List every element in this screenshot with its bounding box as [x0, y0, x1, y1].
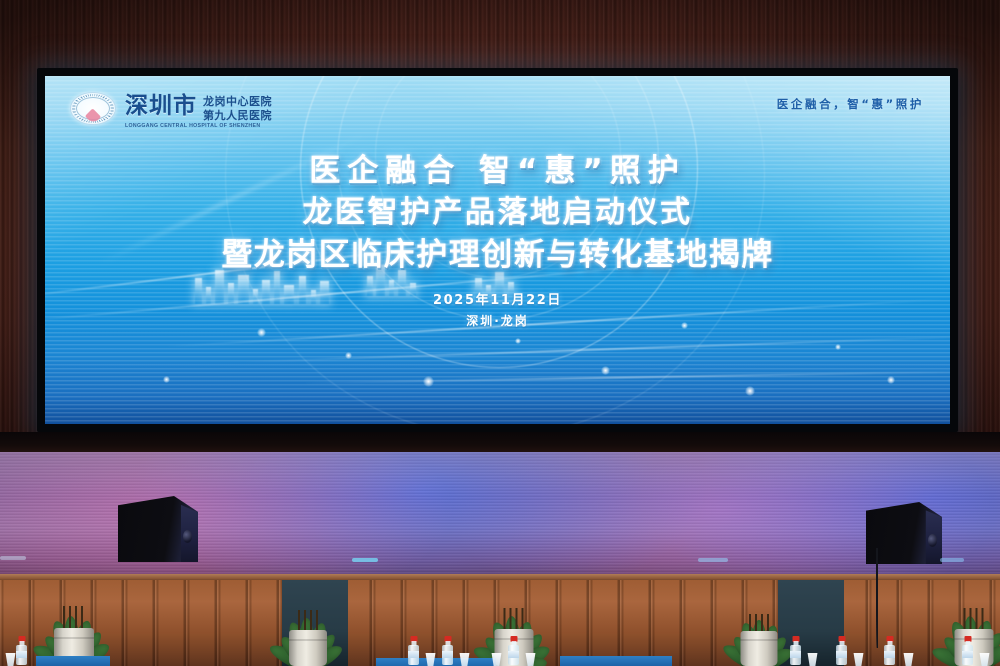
corner-slogan: 医企融合，智“惠”照护 — [777, 96, 924, 112]
table-skirt-2 — [376, 658, 496, 666]
event-date: 2025年11月22日 — [45, 289, 950, 308]
water-bottle — [790, 636, 801, 666]
emblem-ring-text — [72, 94, 114, 123]
hospital-logo: 深圳市 龙岗中心医院 第九人民医院 LONGGANG CENTRAL HOSPI… — [70, 92, 272, 125]
table-skirt-3 — [560, 656, 672, 666]
logo-hospital-name-2: 第九人民医院 — [203, 110, 272, 122]
speaker-cable — [876, 548, 878, 648]
potted-plant-1 — [14, 556, 134, 666]
water-bottle — [16, 636, 27, 666]
event-meta: 2025年11月22日 深圳·龙岗 — [45, 289, 950, 329]
led-screen: 深圳市 龙岗中心医院 第九人民医院 LONGGANG CENTRAL HOSPI… — [45, 76, 950, 424]
potted-plant-2 — [248, 562, 368, 666]
hospital-emblem-icon — [70, 92, 116, 125]
table-skirt-1 — [36, 656, 110, 666]
water-bottle — [442, 636, 453, 666]
water-bottle — [884, 636, 895, 666]
water-bottle — [408, 636, 419, 666]
title-line-1: 医企融合 智“惠”照护 — [45, 154, 950, 189]
title-line-2: 龙医智护产品落地启动仪式 — [45, 196, 950, 230]
logo-english-name: LONGGANG CENTRAL HOSPITAL OF SHENZHEN — [125, 123, 260, 129]
floor-light-2 — [698, 558, 728, 562]
plant-pot — [289, 630, 327, 666]
event-location: 深圳·龙岗 — [45, 312, 950, 329]
potted-plant-5 — [912, 558, 1000, 666]
title-line-3: 暨龙岗区临床护理创新与转化基地揭牌 — [45, 238, 950, 273]
logo-hospital-names: 龙岗中心医院 第九人民医院 — [203, 95, 272, 122]
water-bottle — [508, 636, 519, 666]
conference-hall-photo: 深圳市 龙岗中心医院 第九人民医院 LONGGANG CENTRAL HOSPI… — [0, 0, 1000, 666]
event-title: 医企融合 智“惠”照护 龙医智护产品落地启动仪式 暨龙岗区临床护理创新与转化基地… — [45, 154, 950, 273]
water-bottle — [836, 636, 847, 666]
water-bottle — [962, 636, 973, 666]
logo-city-name: 深圳市 — [125, 95, 197, 118]
hospital-logo-text: 深圳市 龙岗中心医院 第九人民医院 — [125, 95, 272, 122]
stage-monitor-speaker-left — [118, 496, 198, 562]
plant-pot — [741, 631, 778, 666]
logo-hospital-name-1: 龙岗中心医院 — [203, 96, 272, 108]
